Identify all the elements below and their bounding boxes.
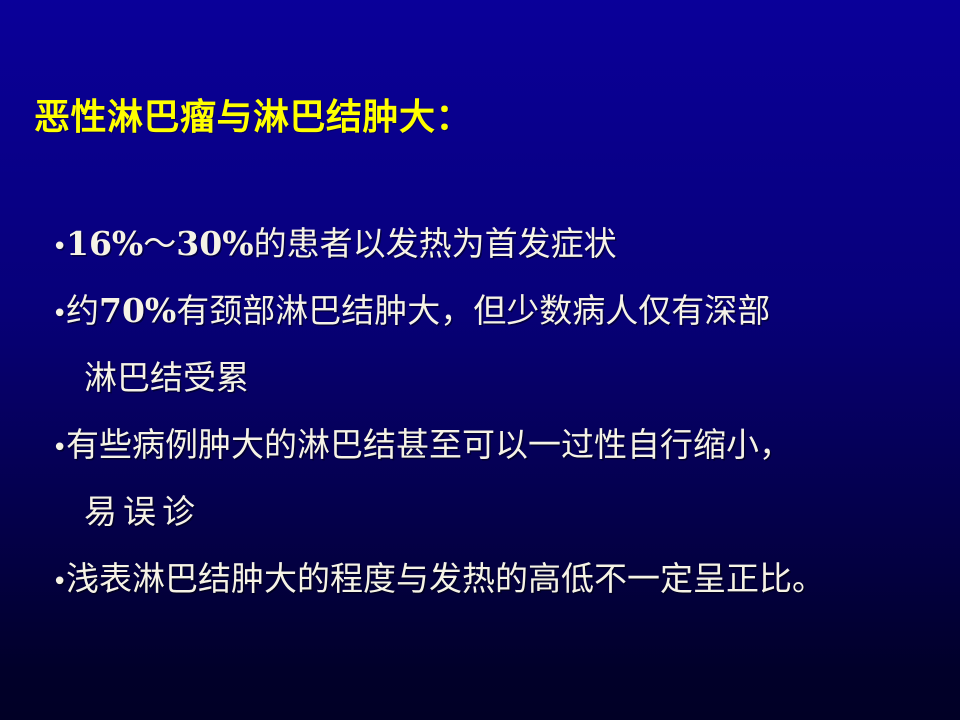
bullet-line: •有些病例肿大的淋巴结甚至可以一过性自行缩小， (52, 411, 942, 478)
line-text-segment: 约 (66, 291, 99, 330)
bullet-line: •浅表淋巴结肿大的程度与发热的高低不一定呈正比。 (52, 545, 942, 612)
bullet-line: •约70%有颈部淋巴结肿大，但少数病人仅有深部 (52, 277, 942, 344)
line-text-segment: 30% (176, 224, 253, 263)
bullet-dot-icon: • (52, 281, 66, 348)
continuation-line: 易误诊 (52, 478, 942, 545)
continuation-line: 淋巴结受累 (52, 344, 942, 411)
line-text-segment: 淋巴结受累 (84, 358, 249, 397)
slide-canvas: 恶性淋巴瘤与淋巴结肿大： •16%～30%的患者以发热为首发症状•约70%有颈部… (0, 0, 960, 720)
line-text-segment: 70% (99, 291, 176, 330)
line-text-segment: ～ (143, 224, 176, 263)
slide-title: 恶性淋巴瘤与淋巴结肿大： (34, 96, 472, 140)
bullet-dot-icon: • (52, 214, 66, 281)
line-text-segment: 16% (66, 224, 143, 263)
slide-body: •16%～30%的患者以发热为首发症状•约70%有颈部淋巴结肿大，但少数病人仅有… (52, 210, 942, 612)
bullet-line: •16%～30%的患者以发热为首发症状 (52, 210, 942, 277)
bullet-dot-icon: • (52, 549, 66, 616)
line-text-segment: 有颈部淋巴结肿大，但少数病人仅有深部 (176, 291, 770, 330)
line-text-segment: 的患者以发热为首发症状 (254, 224, 617, 263)
line-text-segment: 易误诊 (84, 492, 201, 531)
line-text-segment: 有些病例肿大的淋巴结甚至可以一过性自行缩小， (66, 425, 792, 464)
line-text-segment: 浅表淋巴结肿大的程度与发热的高低不一定呈正比。 (66, 559, 825, 598)
bullet-dot-icon: • (52, 415, 66, 482)
